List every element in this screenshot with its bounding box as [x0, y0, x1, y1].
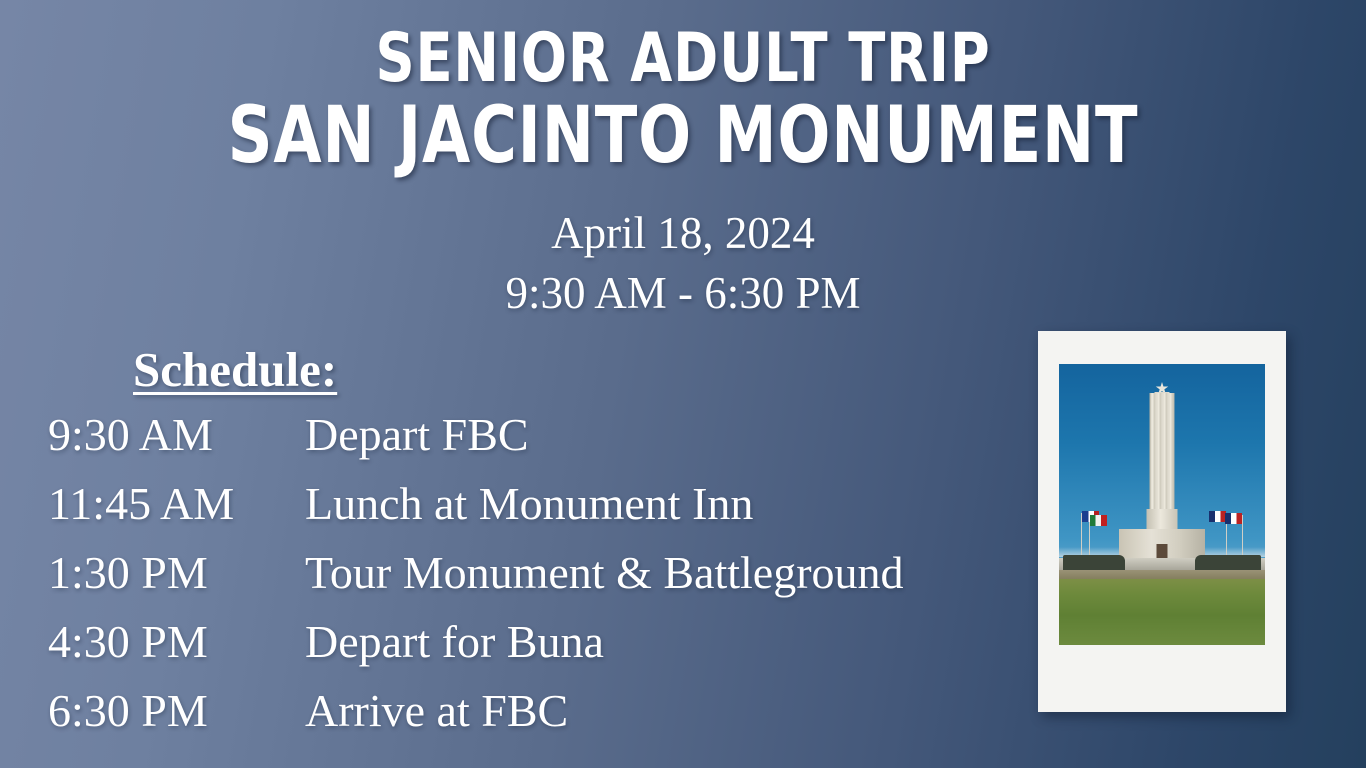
schedule-row: 9:30 AM Depart FBC: [48, 408, 1008, 477]
schedule-description: Arrive at FBC: [305, 684, 1008, 737]
event-time-range: 9:30 AM - 6:30 PM: [0, 264, 1366, 324]
schedule-description: Lunch at Monument Inn: [305, 477, 1008, 530]
schedule-description: Depart for Buna: [305, 615, 1008, 668]
schedule-row: 4:30 PM Depart for Buna: [48, 615, 1008, 684]
schedule-time: 11:45 AM: [48, 477, 305, 530]
schedule-description: Tour Monument & Battleground: [305, 546, 1008, 599]
tree-line-right: [1195, 555, 1261, 570]
event-date: April 18, 2024: [0, 204, 1366, 264]
san-jacinto-monument-photo: [1059, 364, 1265, 645]
schedule-row: 6:30 PM Arrive at FBC: [48, 684, 1008, 753]
title-line-1: SENIOR ADULT TRIP: [137, 24, 1230, 93]
schedule-row: 1:30 PM Tour Monument & Battleground: [48, 546, 1008, 615]
schedule-time: 9:30 AM: [48, 408, 305, 461]
flag: [1225, 513, 1242, 524]
schedule-row: 11:45 AM Lunch at Monument Inn: [48, 477, 1008, 546]
lawn-edge: [1059, 570, 1265, 579]
schedule-time: 4:30 PM: [48, 615, 305, 668]
flag: [1209, 511, 1226, 522]
date-time-block: April 18, 2024 9:30 AM - 6:30 PM: [0, 204, 1366, 324]
schedule-description: Depart FBC: [305, 408, 1008, 461]
title-block: SENIOR ADULT TRIP SAN JACINTO MONUMENT: [0, 24, 1366, 177]
schedule-time: 6:30 PM: [48, 684, 305, 737]
monument-shaft-base: [1147, 509, 1178, 531]
flag-pole: [1242, 515, 1243, 557]
schedule-list: 9:30 AM Depart FBC 11:45 AM Lunch at Mon…: [48, 408, 1008, 753]
flag: [1090, 515, 1107, 526]
schedule-heading: Schedule:: [133, 341, 337, 398]
tree-line-left: [1063, 555, 1125, 570]
schedule-time: 1:30 PM: [48, 546, 305, 599]
title-line-2: SAN JACINTO MONUMENT: [137, 97, 1230, 177]
polaroid-photo-frame: [1038, 331, 1286, 712]
lawn: [1059, 579, 1265, 645]
